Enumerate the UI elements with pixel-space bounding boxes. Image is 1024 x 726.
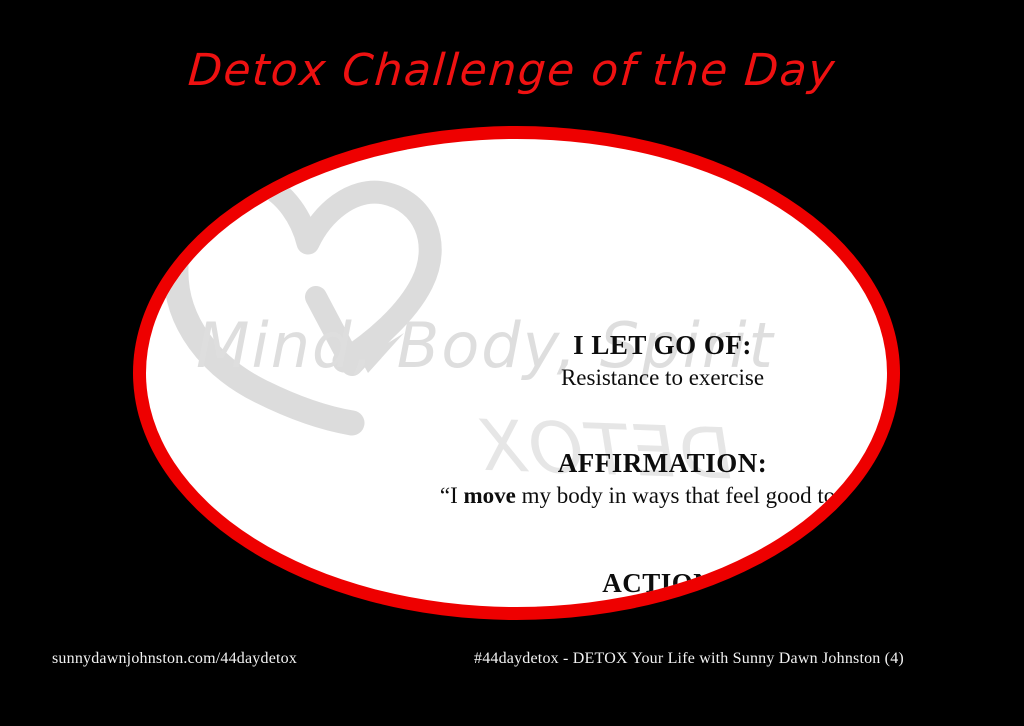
let-go-body: Resistance to exercise — [292, 362, 887, 393]
card-content: I LET GO OF: Resistance to exercise AFFI… — [292, 278, 887, 607]
section-action: ACTION: I do something to bring in movem… — [292, 566, 887, 607]
affirmation-body: “I move my body in ways that feel good t… — [292, 480, 887, 511]
affirmation-heading: AFFIRMATION: — [292, 446, 887, 480]
footer-website-url: sunnydawnjohnston.com/44daydetox — [52, 650, 297, 668]
footer-attribution: #44daydetox - DETOX Your Life with Sunny… — [474, 650, 904, 668]
ellipse-panel: Mind, Body, Spirit DETOX I LET GO OF: Re… — [146, 139, 887, 607]
affirmation-body-emphasis: move — [464, 483, 516, 508]
page-title: Detox Challenge of the Day — [0, 42, 1024, 100]
let-go-heading: I LET GO OF: — [292, 328, 887, 362]
section-let-go: I LET GO OF: Resistance to exercise — [292, 328, 887, 393]
affirmation-body-suffix: my body in ways that feel good to me.” — [516, 483, 885, 508]
section-affirmation: AFFIRMATION: “I move my body in ways tha… — [292, 446, 887, 511]
action-heading: ACTION: — [292, 566, 887, 600]
action-body-line-1: I do something to bring in movement: lik… — [292, 600, 887, 607]
detox-challenge-card: Detox Challenge of the Day Mind, Body, S… — [0, 0, 1024, 726]
affirmation-body-prefix: “I — [440, 483, 464, 508]
